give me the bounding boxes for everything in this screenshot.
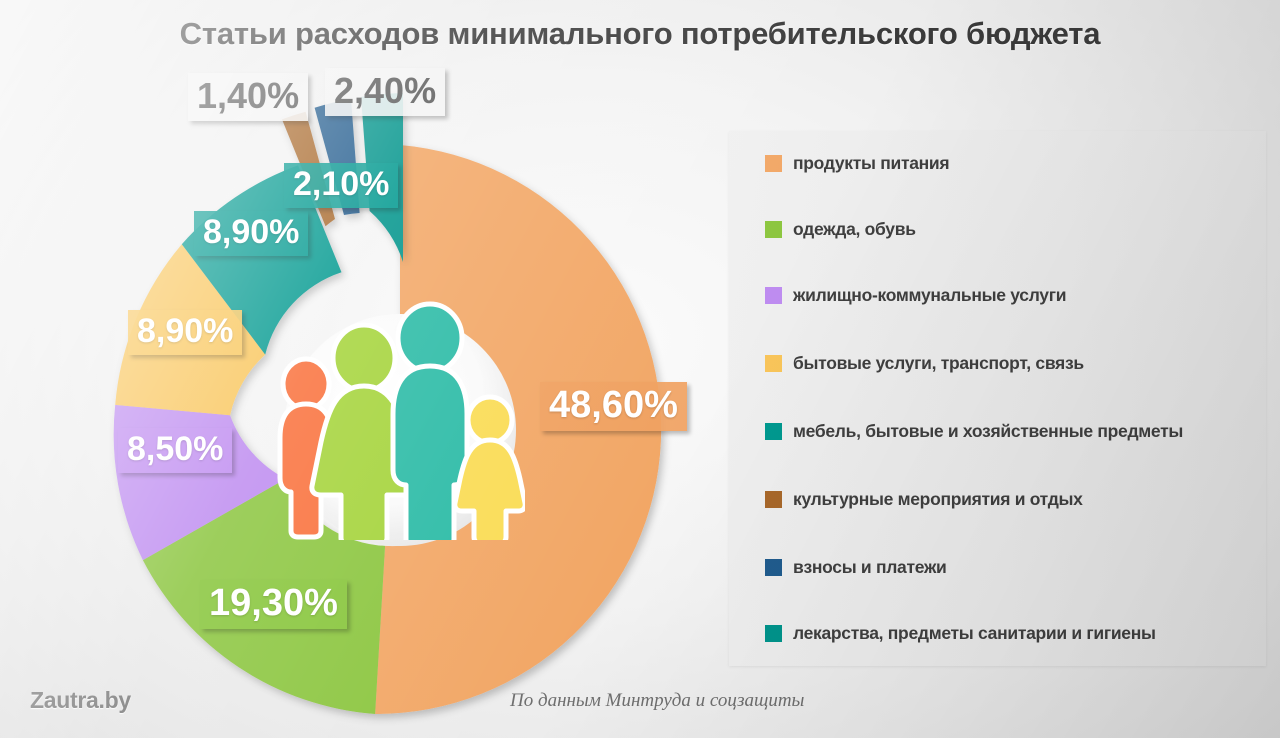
- data-label-furniture: 8,90%: [194, 211, 308, 256]
- data-label-payments: 2,10%: [284, 163, 398, 208]
- donut-chart: 48,60% 19,30% 8,50% 8,90% 8,90% 2,10% 1,…: [0, 0, 740, 738]
- legend-item-culture[interactable]: культурные мероприятия и отдых: [765, 489, 1083, 510]
- data-label-utilities: 8,50%: [118, 428, 232, 473]
- data-label-clothing: 19,30%: [200, 580, 347, 629]
- family-icon: [275, 300, 525, 540]
- legend-item-label: бытовые услуги, транспорт, связь: [793, 353, 1084, 374]
- legend-swatch-icon: [765, 625, 782, 642]
- legend-swatch-icon: [765, 221, 782, 238]
- legend-swatch-icon: [765, 559, 782, 576]
- legend-item-label: культурные мероприятия и отдых: [793, 489, 1083, 510]
- chart-legend: продукты питания одежда, обувь жилищно-к…: [729, 131, 1266, 666]
- legend-item-label: одежда, обувь: [793, 219, 916, 240]
- legend-item-label: взносы и платежи: [793, 557, 947, 578]
- legend-item-label: жилищно-коммунальные услуги: [793, 285, 1066, 306]
- data-label-food: 48,60%: [540, 382, 687, 431]
- legend-item-utilities[interactable]: жилищно-коммунальные услуги: [765, 285, 1066, 306]
- source-credit: По данным Минтруда и соцзащиты: [510, 690, 804, 712]
- brand-watermark: Zautra.by: [30, 687, 131, 714]
- chart-canvas: 48,60% 19,30% 8,50% 8,90% 8,90% 2,10% 1,…: [0, 0, 1280, 738]
- legend-item-payments[interactable]: взносы и платежи: [765, 557, 947, 578]
- data-label-medicine: 2,40%: [325, 68, 445, 116]
- legend-item-label: продукты питания: [793, 153, 949, 174]
- legend-swatch-icon: [765, 155, 782, 172]
- legend-item-medicine[interactable]: лекарства, предметы санитарии и гигиены: [765, 623, 1156, 644]
- legend-item-services[interactable]: бытовые услуги, транспорт, связь: [765, 353, 1084, 374]
- legend-swatch-icon: [765, 355, 782, 372]
- data-label-services: 8,90%: [128, 310, 242, 355]
- legend-item-label: мебель, бытовые и хозяйственные предметы: [793, 421, 1183, 442]
- legend-swatch-icon: [765, 423, 782, 440]
- legend-item-clothing[interactable]: одежда, обувь: [765, 219, 916, 240]
- chart-title: Статьи расходов минимального потребитель…: [0, 16, 1280, 52]
- data-label-culture: 1,40%: [188, 73, 308, 121]
- legend-item-label: лекарства, предметы санитарии и гигиены: [793, 623, 1156, 644]
- legend-item-furniture[interactable]: мебель, бытовые и хозяйственные предметы: [765, 421, 1183, 442]
- legend-swatch-icon: [765, 491, 782, 508]
- legend-item-food[interactable]: продукты питания: [765, 153, 949, 174]
- legend-swatch-icon: [765, 287, 782, 304]
